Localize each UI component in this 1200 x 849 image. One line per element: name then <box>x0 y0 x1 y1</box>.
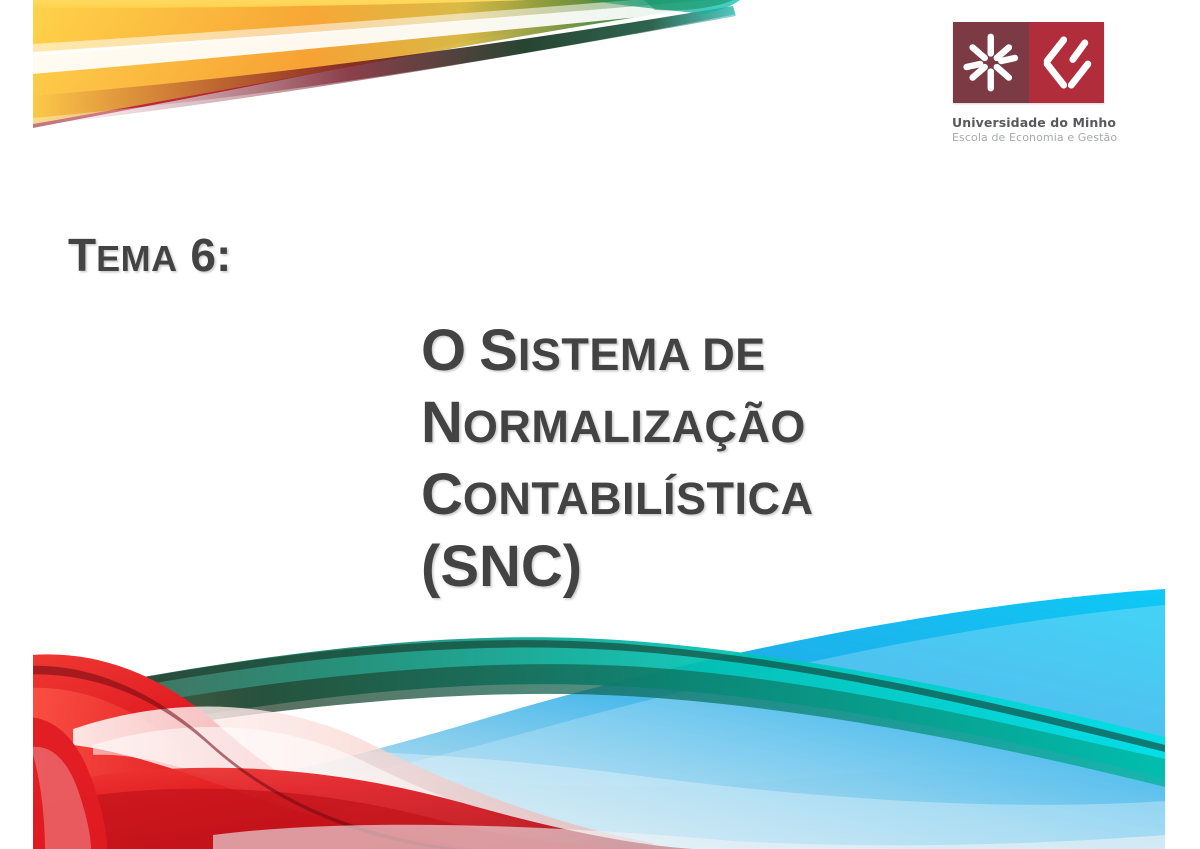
title-line-line-3: CONTABILÍSTICA <box>421 466 1121 524</box>
title-segment-sm: ISTEMA <box>518 329 689 380</box>
topic-label-rest: EMA <box>96 238 178 279</box>
title-segment-cap: O <box>421 318 466 383</box>
title-space <box>689 329 702 380</box>
title-space <box>466 329 479 380</box>
main-title: O SISTEMA DE NORMALIZAÇÃO CONTABILÍSTICA… <box>421 322 1121 610</box>
title-slide: Universidade do Minho Escola de Economia… <box>33 0 1165 849</box>
title-area: TEMA 6: O SISTEMA DE NORMALIZAÇÃO CONTAB… <box>33 0 1165 849</box>
title-segment-cap: S <box>479 318 518 383</box>
title-segment-full: (SNC) <box>421 534 582 599</box>
title-segment-cap: C <box>421 462 463 527</box>
title-line-line-1: O SISTEMA DE <box>421 322 1121 380</box>
title-segment-cap: N <box>421 390 463 455</box>
topic-label-number: 6: <box>178 229 232 281</box>
title-segment-sm: ORMALIZAÇÃO <box>463 401 806 452</box>
title-line-line-4: (SNC) <box>421 538 1121 596</box>
title-segment-sm: DE <box>702 329 766 380</box>
title-segment-sm: ONTABILÍSTICA <box>463 473 814 524</box>
topic-label: TEMA 6: <box>68 228 231 282</box>
topic-label-lead: T <box>68 229 96 281</box>
title-line-line-2: NORMALIZAÇÃO <box>421 394 1121 452</box>
